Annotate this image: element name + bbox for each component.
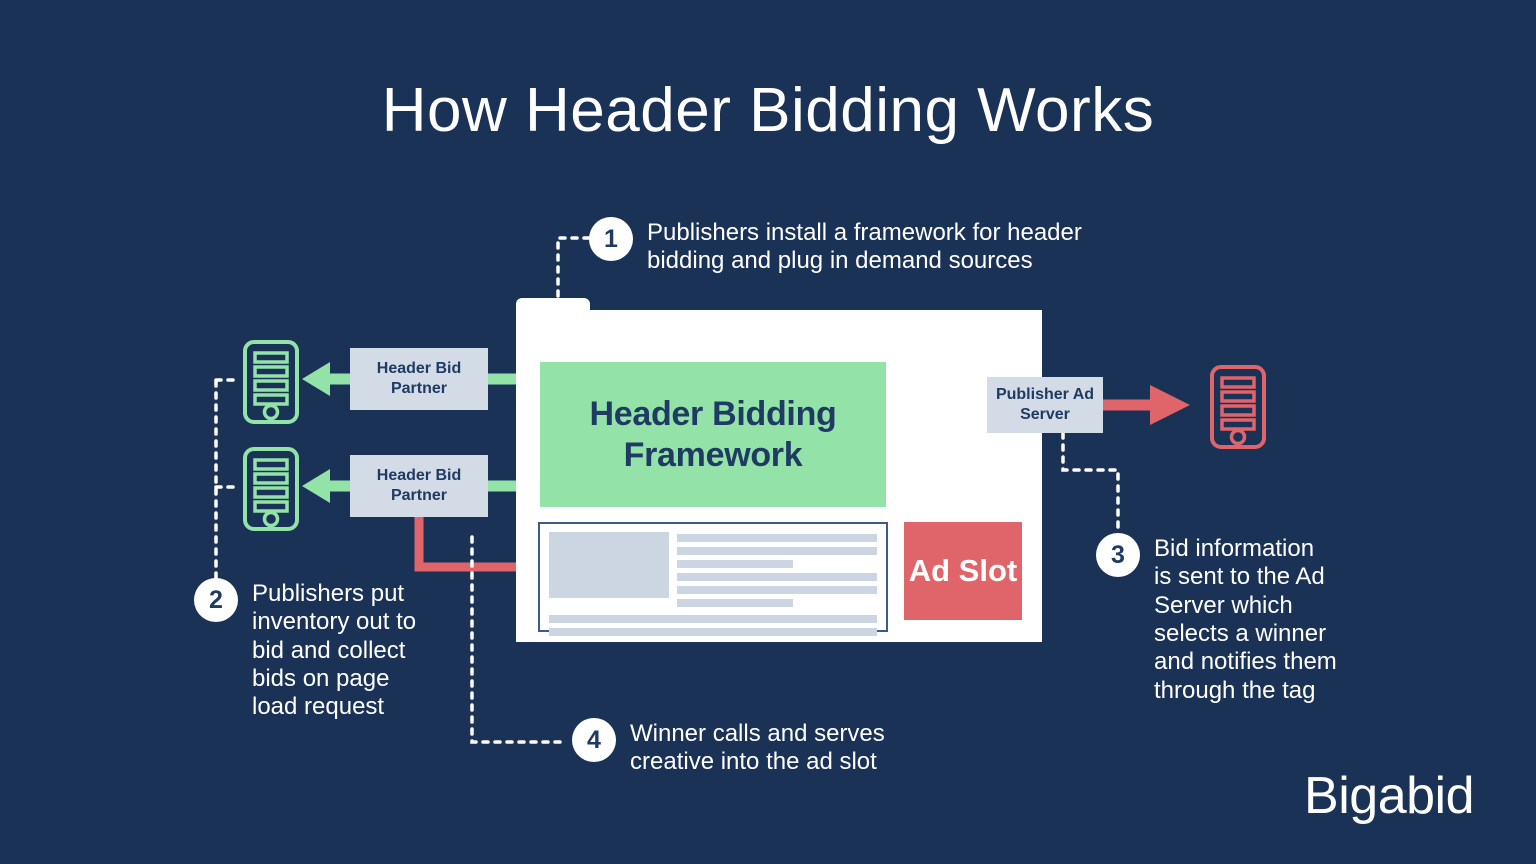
step-description: Bid information is sent to the Ad Server… bbox=[1154, 533, 1337, 705]
arrow-partner2-to-server bbox=[302, 469, 350, 503]
mock-line bbox=[677, 560, 793, 568]
mock-text-lines bbox=[677, 532, 877, 607]
step-number-badge: 4 bbox=[572, 718, 616, 762]
server-icon bbox=[242, 446, 300, 532]
mock-line bbox=[677, 547, 877, 555]
dotted-step1 bbox=[558, 238, 589, 299]
header-bidding-framework-box: Header Bidding Framework bbox=[540, 362, 886, 507]
step-number-badge: 3 bbox=[1096, 533, 1140, 577]
mock-line bbox=[549, 628, 877, 636]
mock-footer-lines bbox=[549, 615, 877, 636]
browser-body: Header Bidding Framework bbox=[516, 310, 1042, 642]
dotted-step3 bbox=[1063, 433, 1118, 533]
header-bid-partner-box-1: Header Bid Partner bbox=[350, 348, 488, 410]
step-callout-1: 1 Publishers install a framework for hea… bbox=[589, 217, 1082, 276]
bigabid-logo: Bigabid bbox=[1304, 766, 1474, 826]
server-icon bbox=[1209, 364, 1267, 450]
server-icon bbox=[242, 339, 300, 425]
step-description: Winner calls and serves creative into th… bbox=[630, 718, 885, 777]
webpage-content-mock bbox=[538, 522, 888, 632]
page-title: How Header Bidding Works bbox=[0, 78, 1536, 143]
step-number-badge: 2 bbox=[194, 578, 238, 622]
step-description: Publishers put inventory out to bid and … bbox=[252, 578, 416, 722]
infographic-canvas: How Header Bidding Works bbox=[0, 0, 1536, 864]
mock-image-placeholder bbox=[549, 532, 669, 598]
arrow-partner1-to-server bbox=[302, 362, 350, 396]
mock-line bbox=[677, 586, 877, 594]
header-bid-partner-box-2: Header Bid Partner bbox=[350, 455, 488, 517]
mock-line bbox=[677, 573, 877, 581]
mock-line bbox=[549, 615, 877, 623]
step-description: Publishers install a framework for heade… bbox=[647, 217, 1082, 276]
publisher-ad-server-box: Publisher Ad Server bbox=[987, 377, 1103, 433]
publisher-page-card: Header Bidding Framework bbox=[516, 298, 1042, 642]
step-callout-4: 4 Winner calls and serves creative into … bbox=[572, 718, 885, 777]
arrow-adserver-to-server bbox=[1103, 385, 1190, 425]
step-number-badge: 1 bbox=[589, 217, 633, 261]
mock-content-row bbox=[549, 532, 877, 607]
step-callout-2: 2 Publishers put inventory out to bid an… bbox=[194, 578, 416, 722]
mock-line bbox=[677, 534, 877, 542]
step-callout-3: 3 Bid information is sent to the Ad Serv… bbox=[1096, 533, 1337, 705]
ad-slot-box: Ad Slot bbox=[904, 522, 1022, 620]
mock-line bbox=[677, 599, 793, 607]
